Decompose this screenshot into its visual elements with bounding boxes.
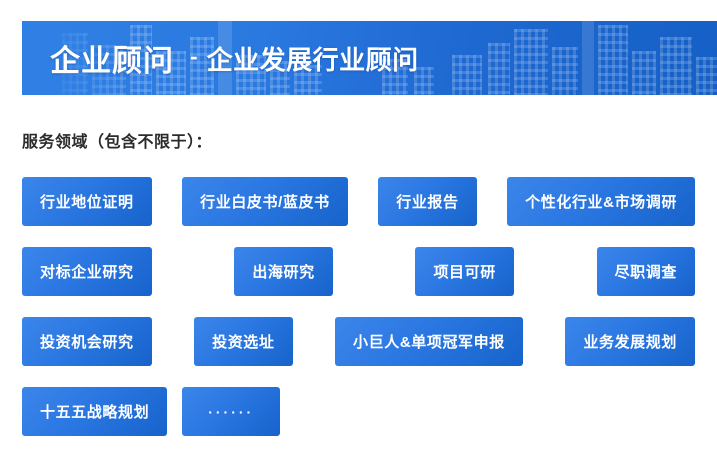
service-tag[interactable]: 小巨人&单项冠军申报 [335,317,523,366]
banner-title-main: 企业顾问 [50,36,174,80]
service-tag-grid: 行业地位证明 行业白皮书/蓝皮书 行业报告 个性化行业&市场调研 对标企业研究 … [22,177,695,436]
service-tag[interactable]: 尽职调查 [597,247,695,296]
service-tag[interactable]: 十五五战略规划 [22,387,167,436]
service-tag-row: 十五五战略规划 ······ [22,387,695,436]
service-tag[interactable]: 投资选址 [194,317,292,366]
banner-title-subtitle: 企业发展行业顾问 [207,40,419,77]
service-tag[interactable]: 行业地位证明 [22,177,152,226]
service-tag-more[interactable]: ······ [182,387,280,436]
service-tag[interactable]: 行业报告 [378,177,476,226]
service-tag[interactable]: 对标企业研究 [22,247,152,296]
service-tag[interactable]: 业务发展规划 [565,317,695,366]
service-tag[interactable]: 投资机会研究 [22,317,152,366]
service-tag[interactable]: 行业白皮书/蓝皮书 [182,177,348,226]
service-scope-label: 服务领域（包含不限于）： [22,128,212,152]
service-tag-row: 行业地位证明 行业白皮书/蓝皮书 行业报告 个性化行业&市场调研 [22,177,695,226]
banner-title-separator: - [174,43,207,70]
service-tag-row: 投资机会研究 投资选址 小巨人&单项冠军申报 业务发展规划 [22,317,695,366]
banner-title: 企业顾问 - 企业发展行业顾问 [50,21,419,95]
header-banner: 企业顾问 - 企业发展行业顾问 [22,21,717,95]
service-tag[interactable]: 出海研究 [234,247,332,296]
page-root: 企业顾问 - 企业发展行业顾问 服务领域（包含不限于）： 行业地位证明 行业白皮… [0,0,717,464]
service-tag[interactable]: 项目可研 [415,247,513,296]
service-tag[interactable]: 个性化行业&市场调研 [507,177,695,226]
service-tag-row: 对标企业研究 出海研究 项目可研 尽职调查 [22,247,695,296]
